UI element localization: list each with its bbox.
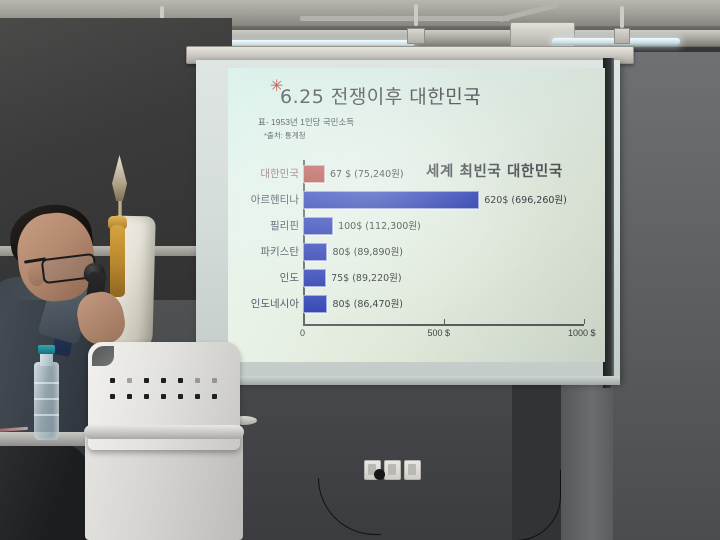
right-wall	[612, 52, 720, 540]
podium-dot	[195, 394, 200, 399]
chart-category-label: 인도네시아	[251, 296, 299, 311]
wall-outlet-3	[404, 460, 421, 480]
chart-bar	[303, 295, 327, 313]
chart-category-label: 대한민국	[260, 166, 299, 181]
podium-dot	[144, 394, 149, 399]
ceiling-hanger-mid	[414, 4, 418, 26]
chart-row: 아르헨티나620$ (696,260원)	[303, 188, 584, 214]
chart-bar	[303, 165, 325, 183]
chart-value-label: 75$ (89,220원)	[331, 270, 402, 284]
podium-dot	[178, 394, 183, 399]
chart-value-label: 80$ (86,470원)	[332, 296, 403, 310]
chart-value-label: 100$ (112,300원)	[338, 218, 421, 232]
podium-dot-pattern	[110, 378, 222, 408]
chart-bar	[303, 191, 479, 209]
chart-row: 대한민국67 $ (75,240원)	[303, 162, 584, 188]
chart-value-label: 67 $ (75,240원)	[330, 166, 404, 180]
podium-dot	[110, 394, 115, 399]
bottle-band-2	[34, 398, 59, 400]
chart-x-tick-label: 0	[300, 328, 305, 338]
chart-bar	[303, 243, 327, 261]
chart-value-label: 80$ (89,890원)	[332, 244, 403, 258]
projector-screen-bottom-bar	[196, 376, 620, 385]
projected-slide: ✳ 6.25 전쟁이후 대한민국 표- 1953년 1인당 국민소득 *출처: …	[228, 68, 605, 362]
podium-dot	[178, 378, 183, 383]
chart-row: 필리핀100$ (112,300원)	[303, 214, 584, 240]
podium-lip	[84, 425, 244, 439]
wall-column	[561, 368, 613, 540]
bottle-band-1	[34, 382, 59, 384]
wall-outlet-2	[384, 460, 401, 480]
podium-dot	[144, 378, 149, 383]
ceiling-hanger-right	[620, 6, 624, 28]
flag-tassel	[110, 225, 125, 297]
lecture-room-scene: ✳ 6.25 전쟁이후 대한민국 표- 1953년 1인당 국민소득 *출처: …	[0, 0, 720, 540]
chart-bar	[303, 217, 333, 235]
podium-dot	[161, 378, 166, 383]
chart-category-label: 필리핀	[270, 218, 299, 233]
water-bottle	[34, 362, 59, 440]
podium-dot	[110, 378, 115, 383]
chart-x-tick	[584, 319, 585, 324]
chart-x-tick-label: 500 $	[428, 328, 451, 338]
podium-dot	[195, 378, 200, 383]
side-desk-body	[0, 444, 88, 540]
chart-x-tick	[444, 319, 445, 324]
podium-dot	[127, 378, 132, 383]
ceiling-bracket-right	[614, 28, 630, 44]
chart-category-label: 파키스탄	[260, 244, 299, 259]
podium-corner-shadow	[92, 346, 114, 366]
podium-dot	[212, 378, 217, 383]
podium-dot	[127, 394, 132, 399]
ceiling-bracket-mid	[407, 28, 425, 44]
chart-x-axis	[303, 324, 584, 326]
chart-row: 인도75$ (89,220원)	[303, 266, 584, 292]
chart-category-label: 아르헨티나	[251, 192, 299, 207]
chart-bar	[303, 269, 326, 287]
podium-dot	[212, 394, 217, 399]
bottle-neck	[40, 352, 53, 366]
chart-x-tick-label: 1000 $	[568, 328, 596, 338]
bar-chart: 대한민국67 $ (75,240원)아르헨티나620$ (696,260원)필리…	[228, 68, 605, 362]
chart-category-label: 인도	[280, 270, 299, 285]
chart-row: 파키스탄80$ (89,890원)	[303, 240, 584, 266]
podium-dot	[161, 394, 166, 399]
bottle-cap	[38, 345, 55, 354]
ceiling-conduit	[300, 16, 510, 21]
chart-value-label: 620$ (696,260원)	[484, 192, 567, 206]
bottle-band-3	[34, 414, 59, 416]
chart-row: 인도네시아80$ (86,470원)	[303, 292, 584, 318]
